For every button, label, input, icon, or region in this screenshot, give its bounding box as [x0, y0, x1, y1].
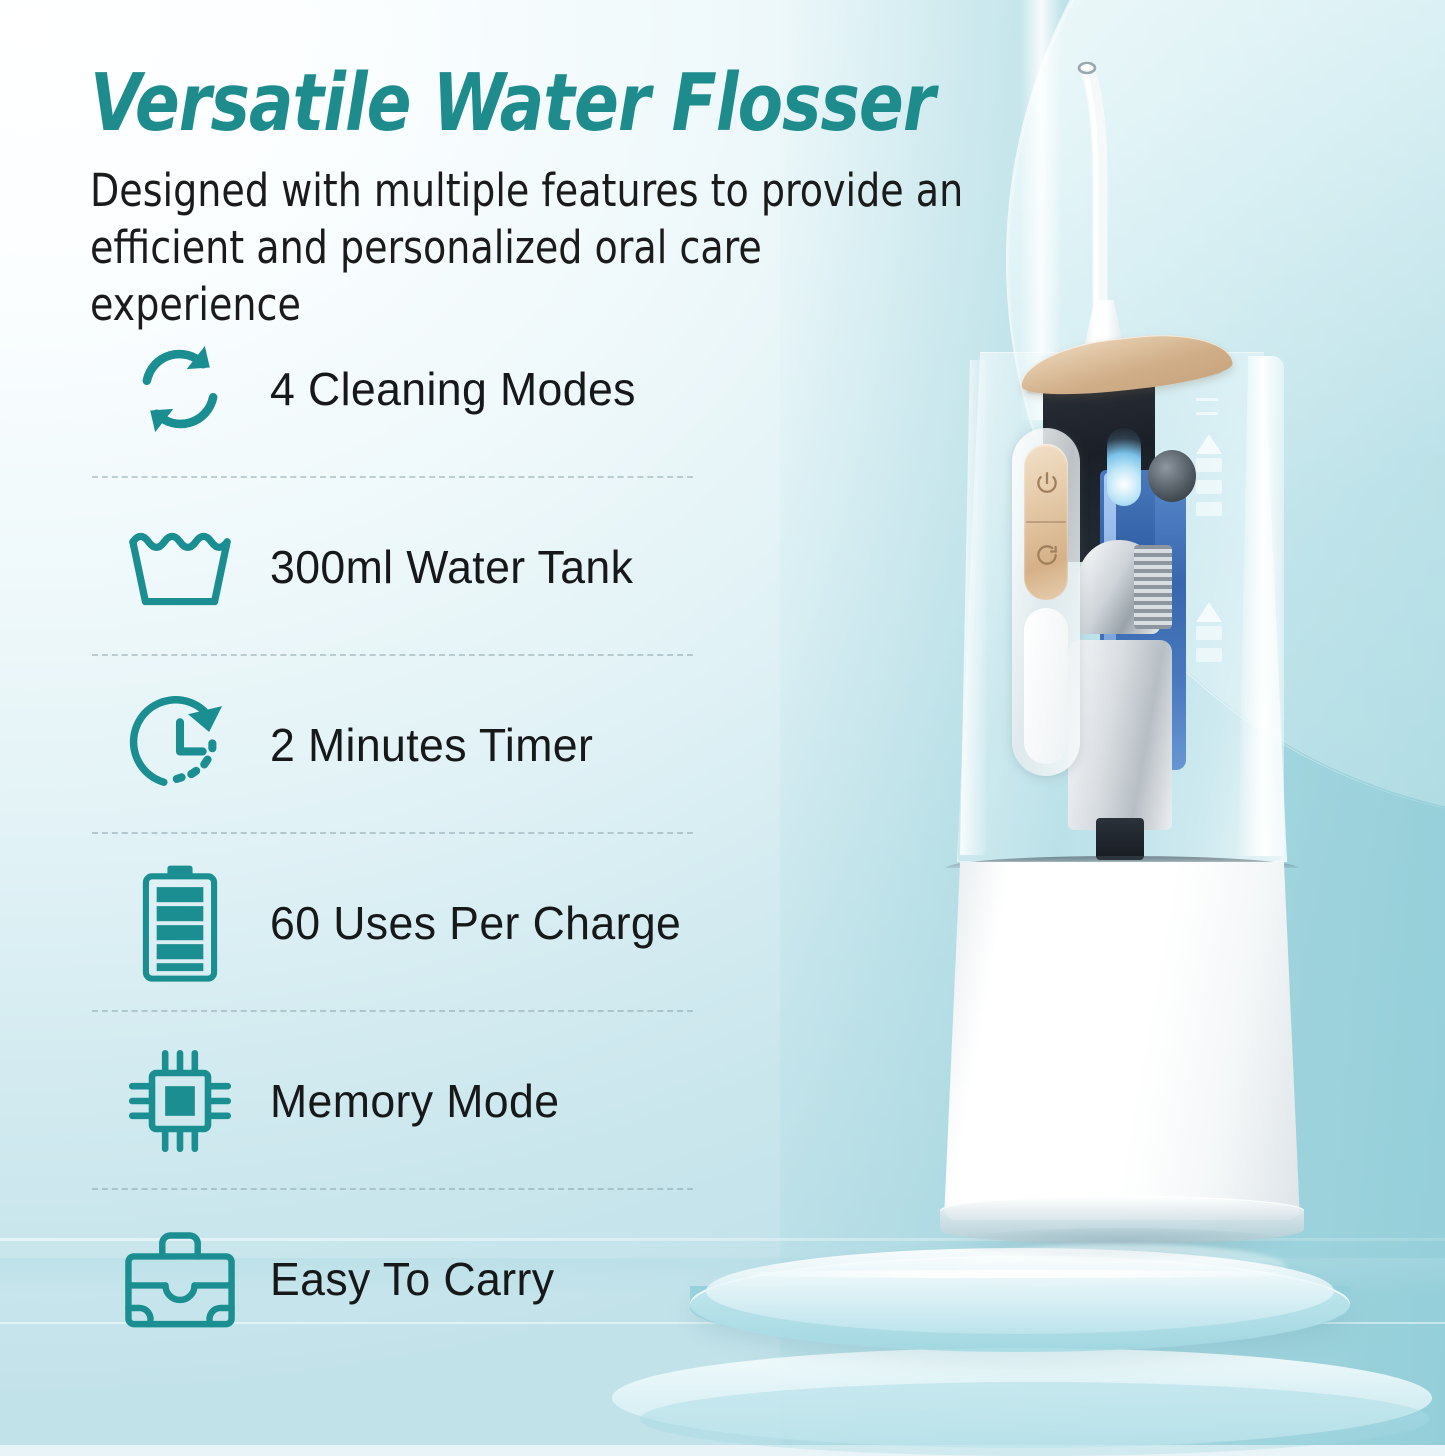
tank-scale-tick-1 — [1196, 398, 1218, 401]
internal-gear — [1134, 545, 1172, 629]
feature-list: 4 Cleaning Modes 300ml Water Tank — [90, 300, 685, 1368]
feature-label: 2 Minutes Timer — [270, 720, 593, 770]
feature-row-memory-mode: Memory Mode — [90, 1012, 685, 1190]
button-divider — [1026, 521, 1066, 523]
page-title: Versatile Water Flosser — [90, 60, 964, 146]
water-level-mark-5 — [1196, 648, 1222, 662]
chip-icon — [90, 1041, 270, 1161]
internal-knob — [1148, 450, 1196, 502]
water-level-mark-4 — [1196, 626, 1222, 640]
feature-label: 300ml Water Tank — [270, 542, 633, 592]
internal-stem — [1096, 818, 1144, 860]
power-button[interactable] — [1034, 470, 1060, 496]
briefcase-icon — [90, 1219, 270, 1339]
page-subtitle-line-1: Designed with multiple features to provi… — [90, 162, 983, 219]
body-reflection — [956, 1244, 1286, 1288]
white-handle-body — [944, 862, 1300, 1220]
water-tank-icon — [90, 507, 270, 627]
mode-button[interactable] — [1034, 542, 1060, 568]
tank-scale-tick-2 — [1196, 412, 1218, 415]
feature-label: 60 Uses Per Charge — [270, 898, 681, 948]
jet-tip-nozzle — [1056, 48, 1136, 348]
internal-led-glow — [1107, 428, 1141, 506]
water-level-mark-3 — [1196, 502, 1222, 516]
feature-row-cleaning-modes: 4 Cleaning Modes — [90, 300, 685, 478]
feature-row-battery: 60 Uses Per Charge — [90, 834, 685, 1012]
water-level-mark-2 — [1196, 480, 1222, 494]
control-panel-inner — [1024, 608, 1068, 764]
feature-label: Easy To Carry — [270, 1254, 554, 1304]
feature-label: 4 Cleaning Modes — [270, 364, 636, 414]
feature-row-water-tank: 300ml Water Tank — [90, 478, 685, 656]
battery-icon — [90, 863, 270, 983]
feature-label: Memory Mode — [270, 1076, 559, 1126]
refresh-cycle-icon — [90, 329, 270, 449]
feature-row-easy-to-carry: Easy To Carry — [90, 1190, 685, 1368]
timer-clock-icon — [90, 685, 270, 805]
water-level-mark-1 — [1196, 458, 1222, 472]
internal-cylinder — [1068, 640, 1172, 830]
feature-row-timer: 2 Minutes Timer — [90, 656, 685, 834]
